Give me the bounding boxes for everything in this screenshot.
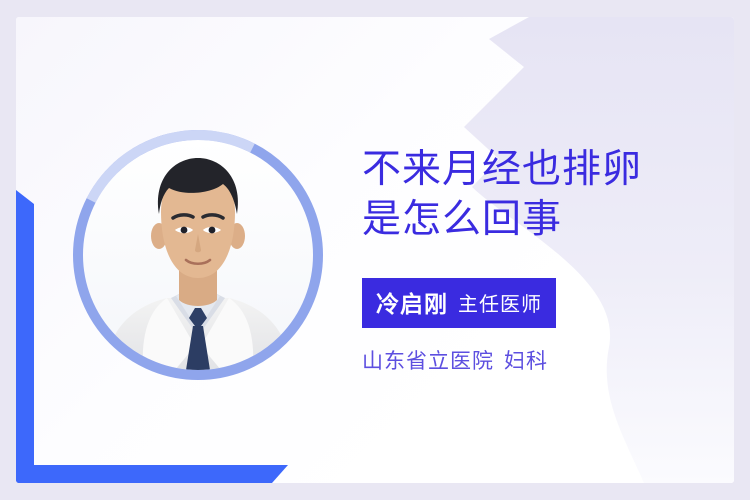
department-name: 妇科 [504, 349, 548, 373]
content-panel: 不来月经也排卵 是怎么回事 冷启刚 主任医师 山东省立医院妇科 [16, 17, 734, 483]
text-block: 不来月经也排卵 是怎么回事 冷启刚 主任医师 山东省立医院妇科 [362, 145, 732, 375]
doctor-name: 冷启刚 [376, 285, 448, 319]
hospital-name: 山东省立医院 [362, 349, 494, 373]
portrait-ring [73, 130, 323, 380]
page-title: 不来月经也排卵 是怎么回事 [362, 145, 732, 245]
accent-bar-bottom [16, 465, 288, 483]
doctor-title: 主任医师 [458, 288, 542, 317]
doctor-affiliation: 山东省立医院妇科 [362, 345, 732, 375]
promo-card: 不来月经也排卵 是怎么回事 冷启刚 主任医师 山东省立医院妇科 [0, 0, 750, 500]
accent-bar-left [16, 190, 34, 483]
doctor-portrait [73, 130, 323, 380]
doctor-name-badge: 冷启刚 主任医师 [362, 278, 556, 328]
